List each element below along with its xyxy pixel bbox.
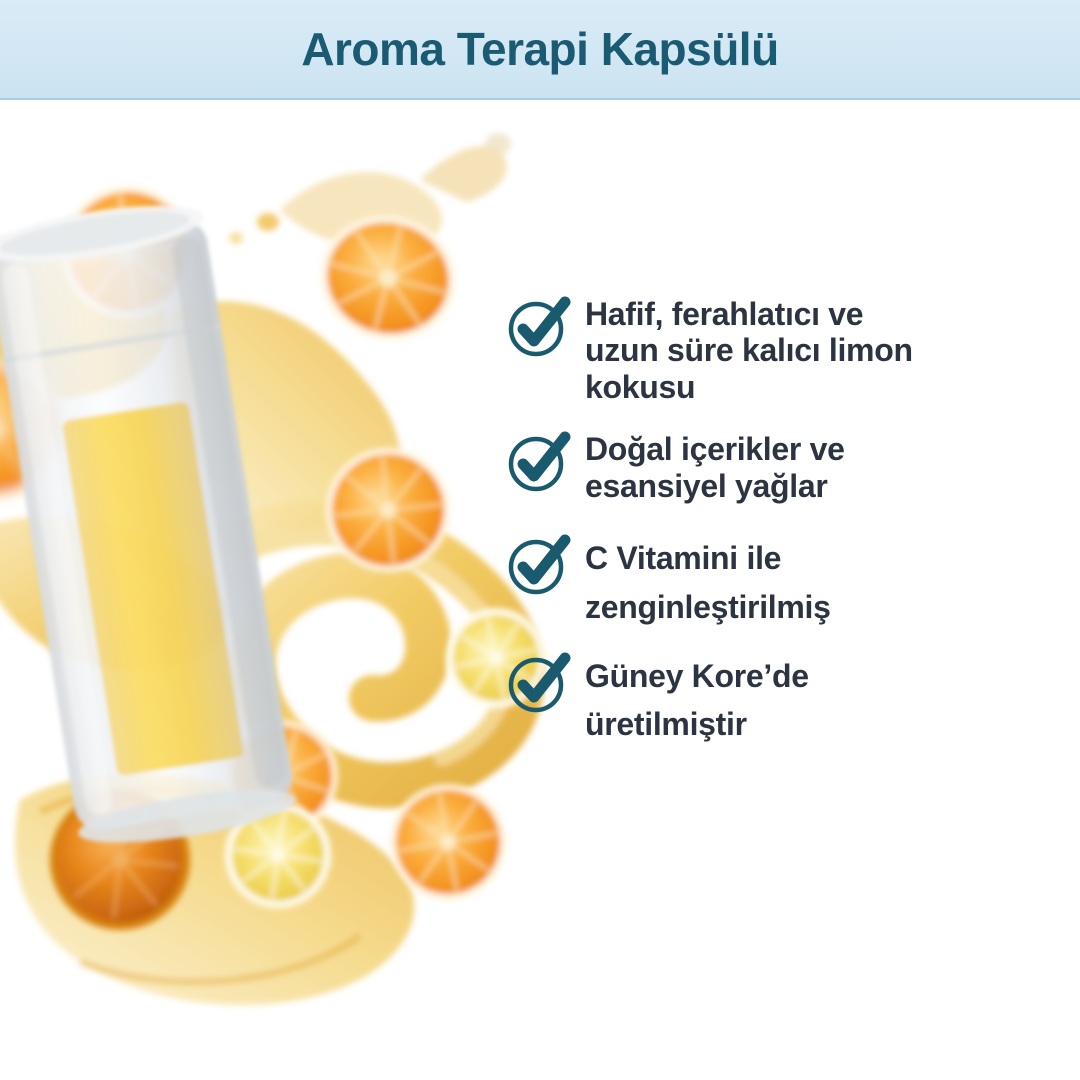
- check-circle-icon: [505, 294, 571, 360]
- feature-item-origin: Güney Kore’de üretilmiştir: [505, 648, 975, 749]
- citrus-splash-artwork: [0, 100, 560, 1040]
- feature-list: Hafif, ferahlatıcı ve uzun süre kalıcı l…: [505, 292, 975, 749]
- feature-item-scent: Hafif, ferahlatıcı ve uzun süre kalıcı l…: [505, 292, 975, 405]
- product-feature-card: Aroma Terapi Kapsülü: [0, 0, 1080, 1080]
- feature-item-vitamin-c: C Vitamini ile zenginleştirilmiş: [505, 530, 975, 631]
- feature-text: Güney Kore’de üretilmiştir: [585, 648, 809, 749]
- check-circle-icon: [505, 532, 571, 598]
- feature-text: Hafif, ferahlatıcı ve uzun süre kalıcı l…: [585, 292, 913, 405]
- feature-text: C Vitamini ile zenginleştirilmiş: [585, 530, 831, 631]
- check-circle-icon: [505, 429, 571, 495]
- header-banner: Aroma Terapi Kapsülü: [0, 0, 1080, 100]
- feature-item-natural-ingredients: Doğal içerikler ve esansiyel yağlar: [505, 427, 975, 504]
- page-title: Aroma Terapi Kapsülü: [301, 26, 778, 72]
- feature-text: Doğal içerikler ve esansiyel yağlar: [585, 427, 845, 504]
- check-circle-icon: [505, 650, 571, 716]
